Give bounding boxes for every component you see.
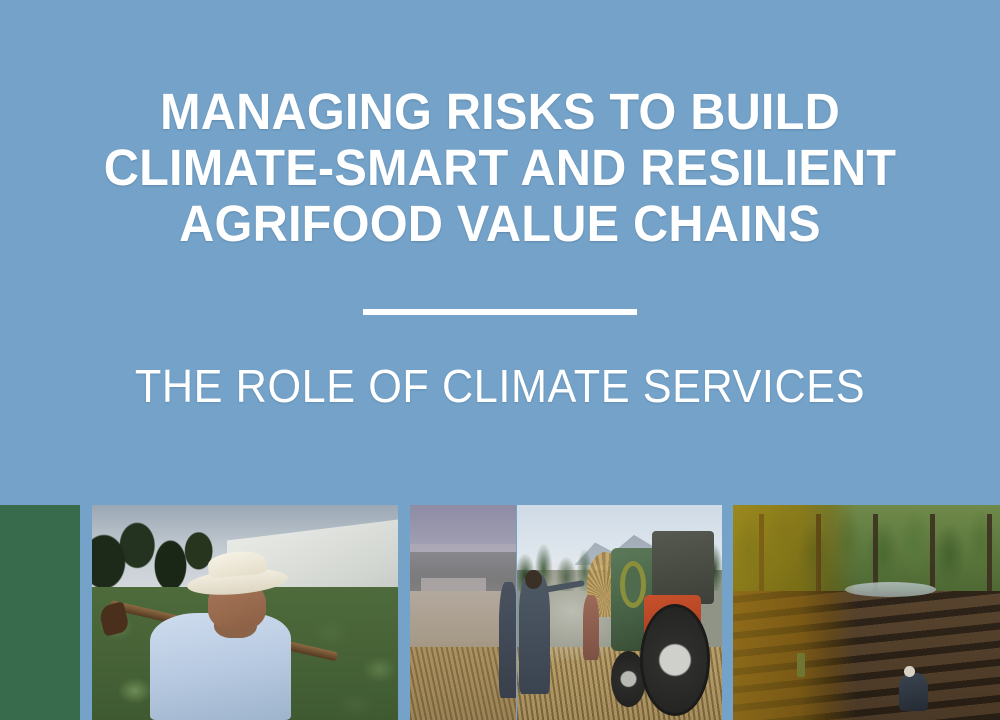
tractor-rear-wheel	[640, 604, 710, 716]
cover-subtitle: THE ROLE OF CLIMATE SERVICES	[0, 360, 1000, 412]
title-line-3: AGRIFOOD VALUE CHAINS	[23, 196, 978, 252]
report-cover: MANAGING RISKS TO BUILD CLIMATE-SMART AN…	[0, 0, 1000, 720]
machine-pulley	[620, 561, 647, 608]
worker-background	[583, 595, 599, 660]
cover-photo-strip	[0, 505, 1000, 720]
planting-worker	[899, 673, 928, 712]
title-line-2: CLIMATE-SMART AND RESILIENT	[23, 140, 978, 196]
green-accent-block	[0, 505, 80, 720]
photo-tree-plantation	[733, 505, 1000, 720]
title-line-1: MANAGING RISKS TO BUILD	[23, 84, 978, 140]
worker-head	[525, 570, 541, 589]
title-divider	[0, 303, 1000, 321]
photo-tractor-threshing	[517, 505, 722, 720]
subtitle-text: THE ROLE OF CLIMATE SERVICES	[30, 360, 970, 412]
photo-dusty-field	[410, 505, 516, 720]
tractor-cab	[652, 531, 714, 604]
field-worker	[499, 582, 516, 698]
cover-title: MANAGING RISKS TO BUILD CLIMATE-SMART AN…	[0, 84, 1000, 252]
planting-worker-head	[904, 666, 915, 677]
golden-grade-highlight	[733, 505, 856, 720]
divider-rule	[363, 309, 637, 315]
photo-farmer-with-hoe	[92, 505, 398, 720]
